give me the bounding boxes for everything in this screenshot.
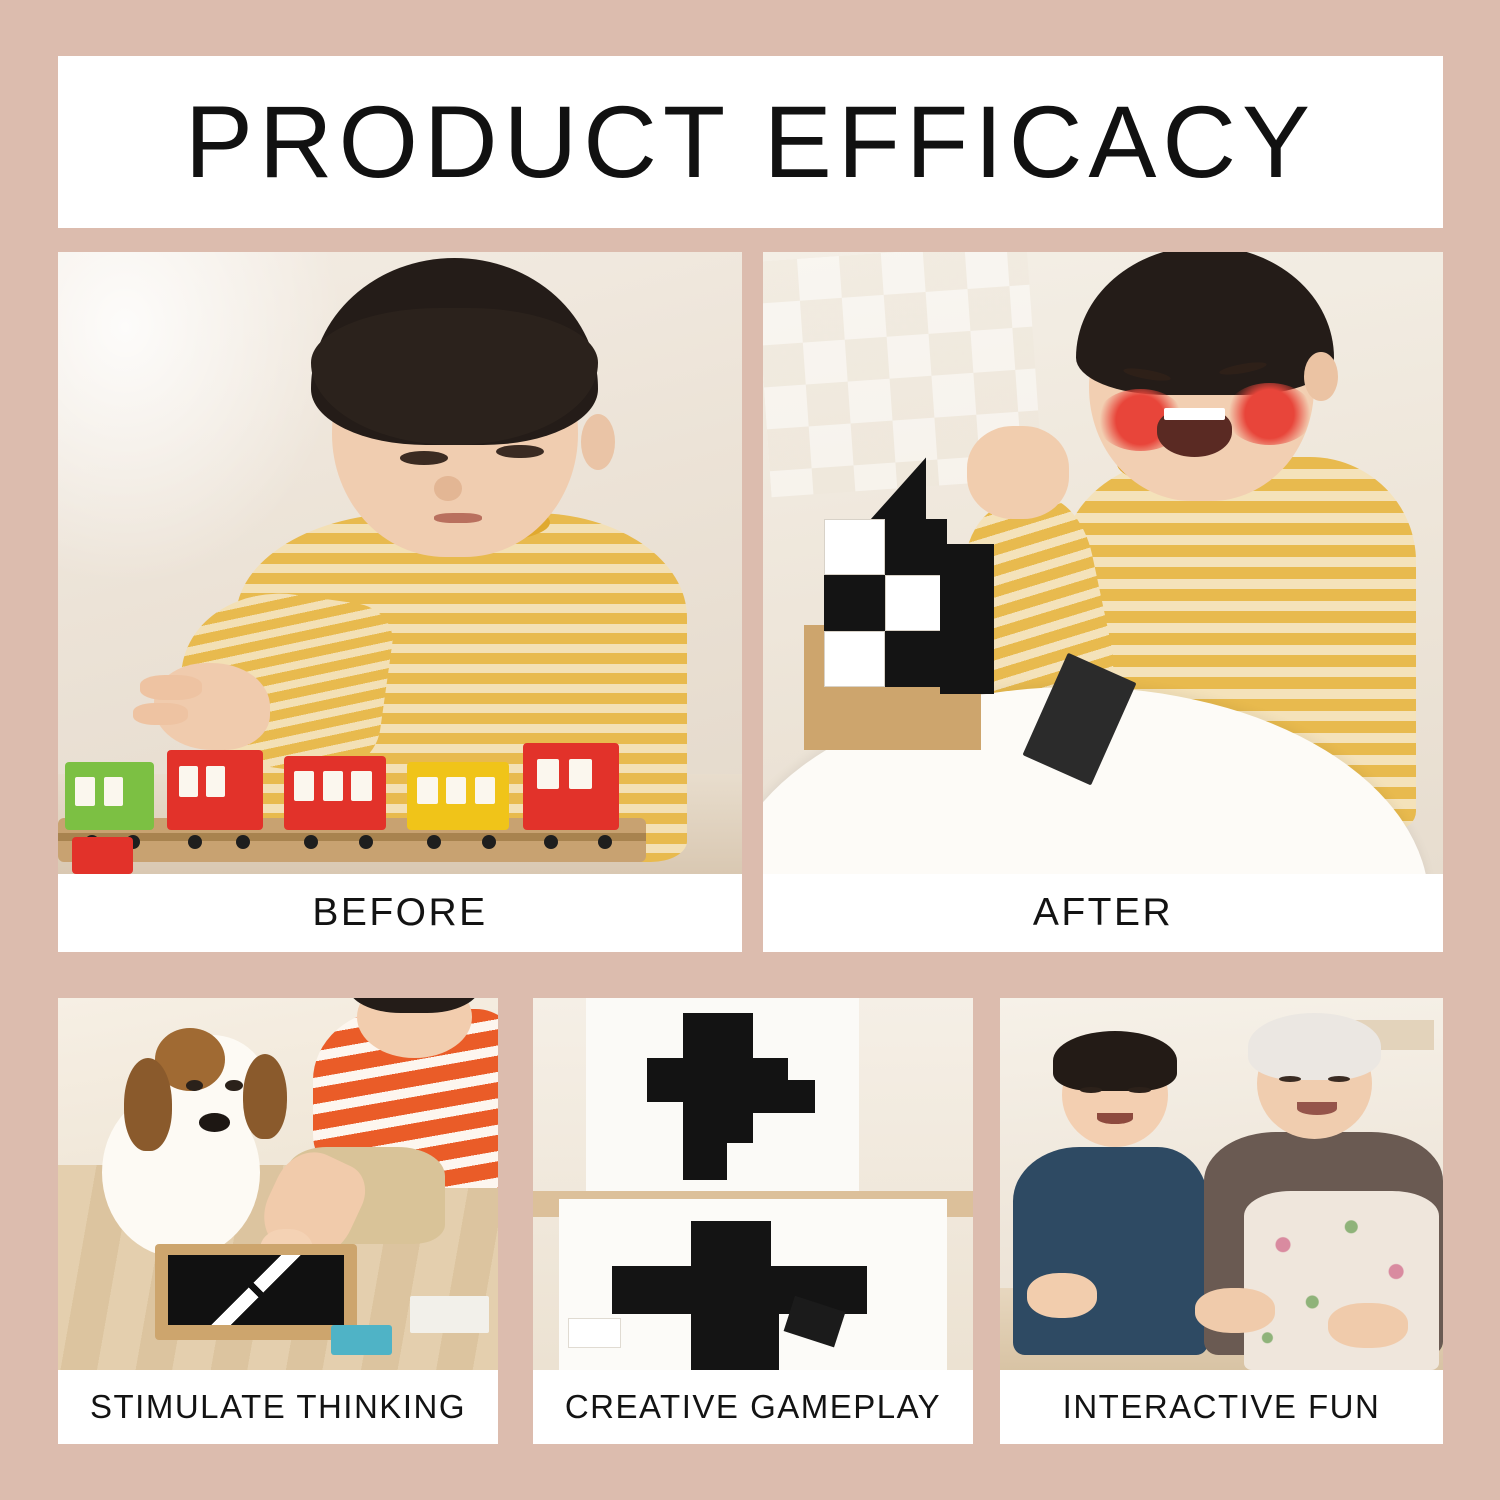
- puzzle-block: [683, 1143, 727, 1180]
- title-banner: PRODUCT EFFICACY: [58, 56, 1443, 228]
- puzzle-block: [683, 1102, 753, 1143]
- puzzle-block: [568, 1318, 621, 1348]
- scene-before: [58, 252, 742, 874]
- scene-creative-gameplay: [533, 998, 973, 1370]
- grandmother-hand-right: [1328, 1303, 1408, 1348]
- boy-nose: [434, 476, 461, 501]
- puzzle-block: [885, 575, 946, 631]
- toy-block-red: [72, 837, 134, 874]
- boy-finger: [140, 675, 202, 700]
- toy-card-blue: [331, 1325, 393, 1355]
- caption-after: AFTER: [763, 874, 1443, 952]
- boy-hand: [1027, 1273, 1098, 1318]
- puzzle-block: [885, 631, 946, 687]
- boy-denim-shirt: [1013, 1147, 1208, 1355]
- panel-creative-gameplay: CREATIVE GAMEPLAY: [533, 998, 973, 1444]
- scene-interactive-fun: [1000, 998, 1443, 1370]
- puzzle-block: [824, 575, 885, 631]
- train-wheel: [359, 835, 373, 849]
- train-wheel: [544, 835, 558, 849]
- caption-before: BEFORE: [58, 874, 742, 952]
- puzzle-block: [824, 631, 885, 687]
- grandmother-smile: [1297, 1102, 1337, 1115]
- dog-eye-left: [186, 1080, 204, 1091]
- grandmother-hair: [1248, 1013, 1381, 1080]
- train-engine: [523, 743, 619, 830]
- boy-ear: [581, 414, 615, 470]
- boy-fist: [967, 426, 1069, 519]
- puzzle-block: [885, 519, 946, 575]
- puzzle-block: [824, 519, 885, 575]
- page-title: PRODUCT EFFICACY: [185, 84, 1316, 201]
- paper-sheet: [410, 1296, 489, 1333]
- puzzle-block: [691, 1314, 779, 1370]
- scene-after: [763, 252, 1443, 874]
- track-rail: [58, 833, 646, 841]
- photo-before: [58, 252, 742, 874]
- train-wheel: [236, 835, 250, 849]
- train-car-yellow: [407, 762, 510, 830]
- puzzle-block: [753, 1080, 815, 1113]
- grandmother-eye-right: [1328, 1076, 1350, 1082]
- train-car-red-1: [167, 750, 263, 831]
- boy-mouth: [434, 513, 482, 523]
- dog-ear-right: [243, 1054, 287, 1140]
- photo-creative-gameplay: [533, 998, 973, 1370]
- train-car-green: [65, 762, 154, 830]
- caption-creative-gameplay: CREATIVE GAMEPLAY: [533, 1370, 973, 1444]
- train-wheel: [188, 835, 202, 849]
- puzzle-block: [691, 1221, 770, 1266]
- panel-before: BEFORE: [58, 252, 742, 952]
- boy-finger: [133, 703, 188, 725]
- boy-cheek-right: [1225, 383, 1313, 445]
- dog-eye-right: [225, 1080, 243, 1091]
- boy-hair: [1053, 1031, 1177, 1091]
- puzzle-pattern: [168, 1255, 344, 1326]
- grandmother-hand-left: [1195, 1288, 1275, 1333]
- product-efficacy-infographic: PRODUCT EFFICACY: [0, 0, 1500, 1500]
- caption-interactive-fun: INTERACTIVE FUN: [1000, 1370, 1443, 1444]
- caption-stimulate-thinking: STIMULATE THINKING: [58, 1370, 498, 1444]
- puzzle-block: [683, 1013, 753, 1058]
- photo-interactive-fun: [1000, 998, 1443, 1370]
- panel-after: AFTER: [763, 252, 1443, 952]
- boy-ear: [1304, 352, 1338, 402]
- boy-eye-left: [400, 451, 448, 465]
- dog-nose: [199, 1113, 230, 1132]
- dog-ear-left: [124, 1058, 172, 1151]
- train-car-red-2: [284, 756, 387, 831]
- panel-interactive-fun: INTERACTIVE FUN: [1000, 998, 1443, 1444]
- scene-stimulate-thinking: [58, 998, 498, 1370]
- photo-stimulate-thinking: [58, 998, 498, 1370]
- panel-stimulate-thinking: STIMULATE THINKING: [58, 998, 498, 1444]
- puzzle-block: [940, 544, 994, 693]
- boy-teeth: [1164, 408, 1225, 420]
- photo-after: [763, 252, 1443, 874]
